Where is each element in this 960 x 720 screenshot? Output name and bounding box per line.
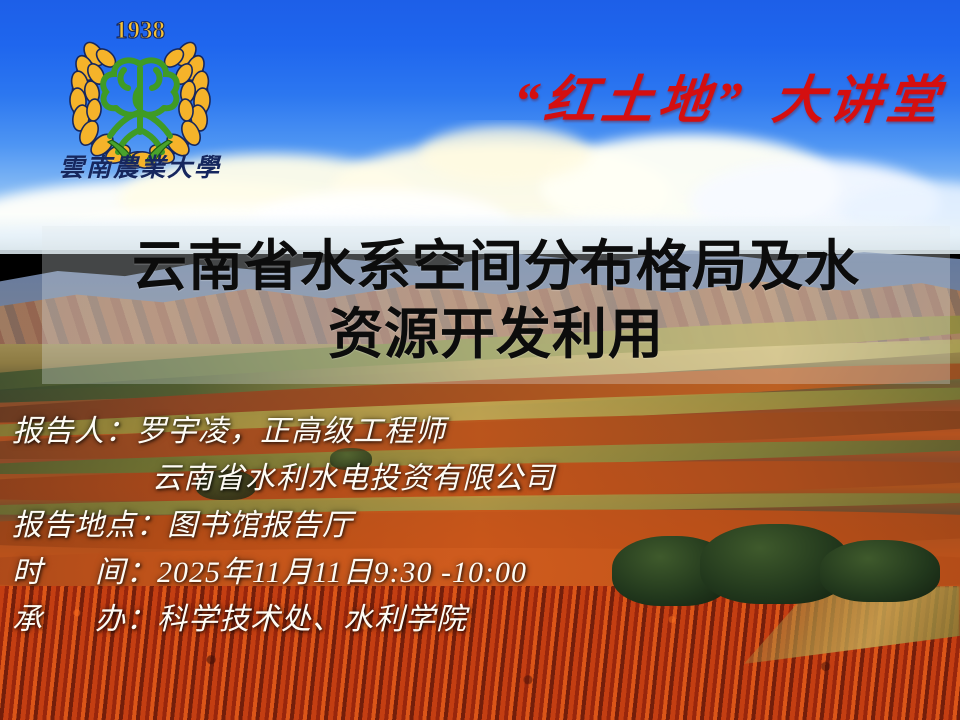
- title-line-2: 资源开发利用: [42, 300, 950, 368]
- time-row: 时间：2025年11月11日9:30 -10:00: [12, 553, 952, 600]
- affiliation-value: 云南省水利水电投资有限公司: [152, 462, 555, 495]
- banner-quoted-title: “红土地”: [510, 73, 749, 130]
- host-row: 承办：科学技术处、水利学院: [12, 600, 952, 647]
- page-title: 云南省水系空间分布格局及水 资源开发利用: [42, 232, 950, 368]
- host-label-char: 承: [12, 603, 43, 636]
- emblem-year-text: 1938: [115, 17, 165, 44]
- venue-row: 报告地点：图书馆报告厅: [12, 506, 952, 553]
- host-value: 科学技术处、水利学院: [157, 603, 467, 636]
- speaker-value: 罗宇凌，正高级工程师: [136, 415, 446, 448]
- poster-slide: 1938: [0, 0, 960, 720]
- time-label-char: 时: [12, 556, 43, 589]
- emblem-tree-icon: [103, 60, 177, 152]
- venue-label: 报告地点：: [12, 509, 167, 542]
- time-label-rest: 间：: [95, 556, 157, 589]
- banner-subtitle: 大讲堂: [769, 73, 946, 130]
- venue-value: 图书馆报告厅: [167, 509, 353, 542]
- speaker-label: 报告人：: [12, 415, 136, 448]
- title-line-1: 云南省水系空间分布格局及水: [42, 232, 950, 300]
- lecture-series-banner: “红土地”大讲堂: [510, 58, 948, 133]
- university-name: 雲南農業大學: [44, 148, 236, 184]
- affiliation-row: 云南省水利水电投资有限公司: [12, 459, 952, 506]
- event-details: 报告人：罗宇凌，正高级工程师 云南省水利水电投资有限公司 报告地点：图书馆报告厅…: [12, 412, 952, 647]
- host-label-rest: 办：: [95, 603, 157, 636]
- speaker-row: 报告人：罗宇凌，正高级工程师: [12, 412, 952, 459]
- time-value: 2025年11月11日9:30 -10:00: [157, 556, 527, 589]
